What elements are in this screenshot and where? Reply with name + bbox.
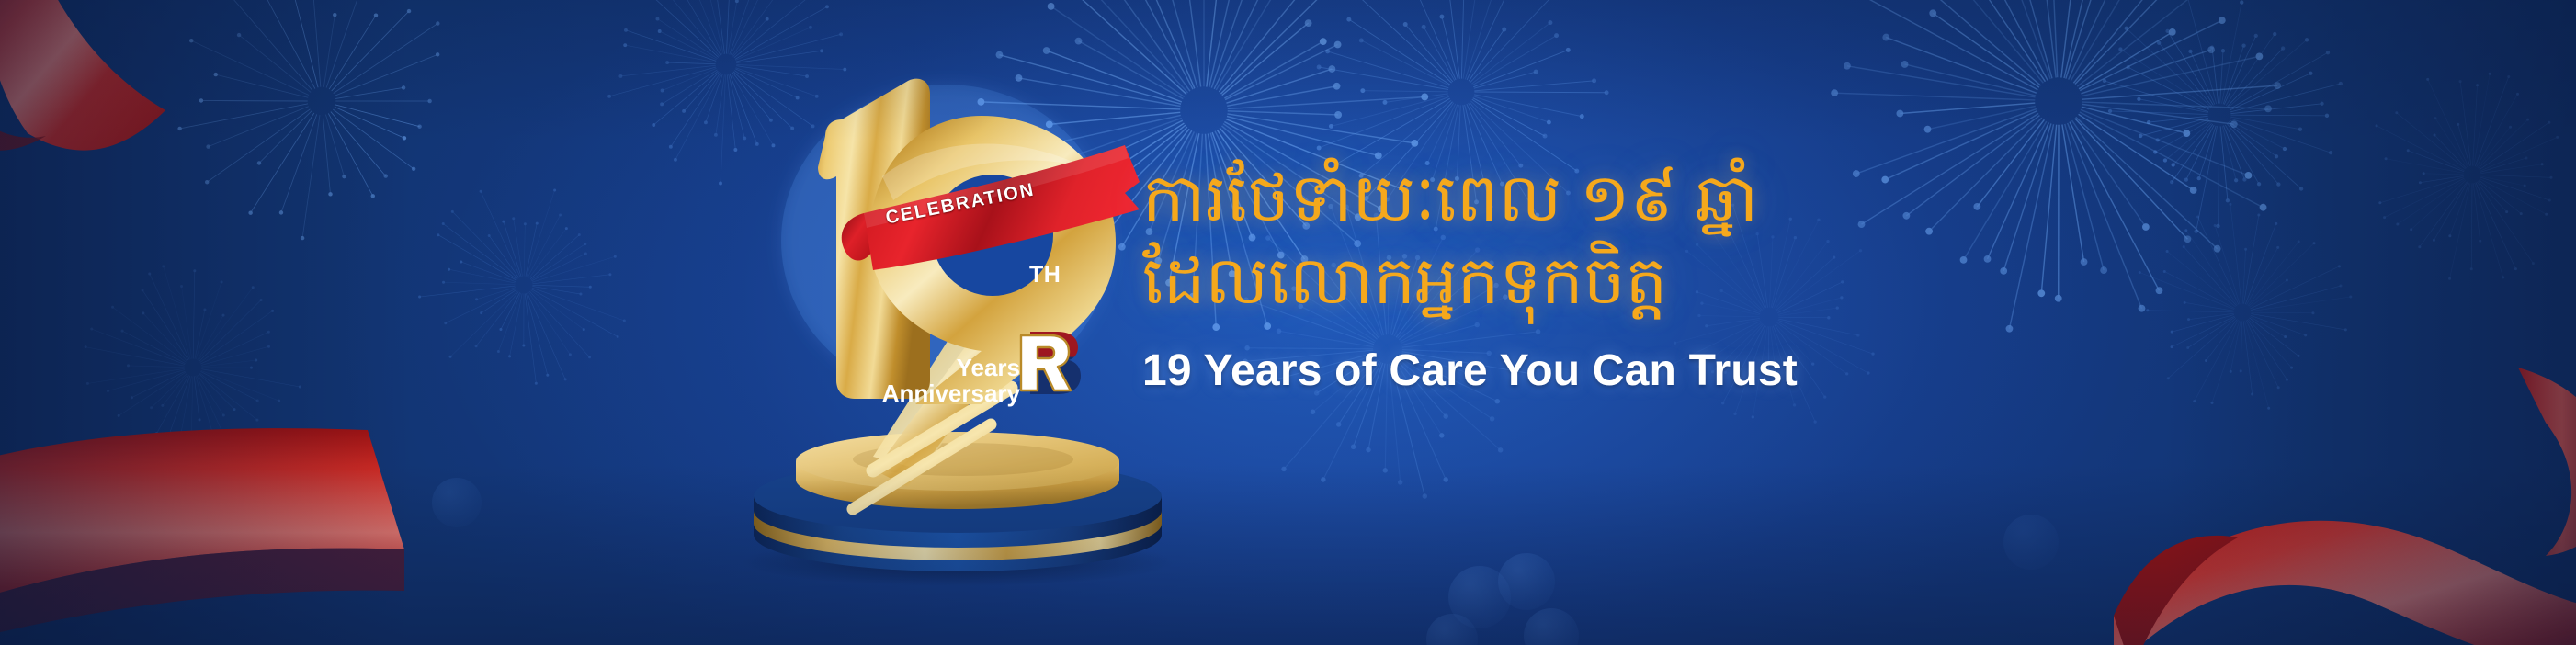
english-tagline: 19 Years of Care You Can Trust xyxy=(1142,345,2153,396)
red-satin-ribbon-icon xyxy=(0,402,423,645)
khmer-headline-line-2: ដែលលោកអ្នកទុកចិត្ត xyxy=(1142,243,2153,321)
ordinal-suffix-label: TH xyxy=(1029,262,1061,289)
khmer-headline-line-1: ការថែទាំយៈពេល ១៩ ឆ្នាំ xyxy=(1142,161,2153,238)
bokeh-circle-icon xyxy=(1426,614,1478,645)
bokeh-circle-icon xyxy=(1524,608,1579,645)
firework-burst-icon xyxy=(55,230,331,505)
bokeh-circle-icon xyxy=(432,478,482,527)
firework-burst-icon xyxy=(386,147,662,423)
firework-burst-icon xyxy=(165,0,478,257)
rb-brand-logo-icon xyxy=(1014,328,1085,398)
years-label: Years xyxy=(919,354,1020,382)
headline-block: ការថែទាំយៈពេល ១៩ ឆ្នាំ ដែលលោកអ្នកទុកចិត្… xyxy=(1142,161,2153,396)
bokeh-circle-icon xyxy=(1448,566,1511,628)
anniversary-emblem xyxy=(735,39,1176,590)
red-satin-ribbon-icon xyxy=(0,0,276,248)
bokeh-circle-icon xyxy=(2003,515,2059,570)
firework-burst-icon xyxy=(2334,37,2576,312)
anniversary-banner: CELEBRATION TH Years Anniversary ការថែទា… xyxy=(0,0,2576,645)
anniversary-label: Anniversary xyxy=(855,379,1020,408)
red-satin-ribbon-icon xyxy=(2150,404,2576,645)
bokeh-circle-icon xyxy=(1498,553,1555,610)
